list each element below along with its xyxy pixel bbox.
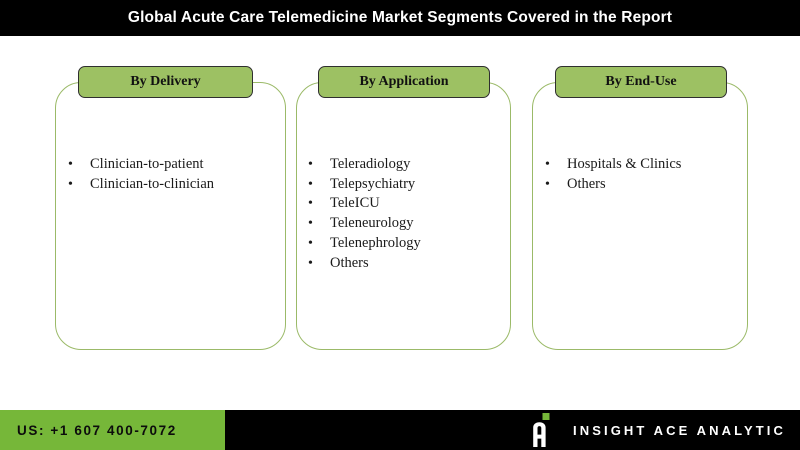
list-item-label: Teleradiology [330, 155, 410, 174]
list-item: • Telenephrology [308, 234, 503, 254]
list-item-label: Others [567, 175, 606, 194]
bullet-icon: • [308, 156, 330, 175]
brand-name: INSIGHT ACE ANALYTIC [573, 423, 786, 438]
bullet-icon: • [308, 195, 330, 214]
list-item: • Telepsychiatry [308, 175, 503, 195]
list-item: • Others [545, 175, 741, 195]
list-item-label: TeleICU [330, 194, 380, 213]
bullet-icon: • [308, 176, 330, 195]
list-item: • TeleICU [308, 194, 503, 214]
bullet-icon: • [308, 215, 330, 234]
segment-header-application: By Application [318, 66, 490, 98]
list-item: • Clinician-to-patient [68, 155, 273, 175]
bullet-icon: • [308, 235, 330, 254]
segment-card-end-use [532, 82, 748, 350]
segments-diagram: By Delivery • Clinician-to-patient • Cli… [0, 36, 800, 401]
phone-number: US: +1 607 400-7072 [17, 423, 177, 438]
list-item-label: Clinician-to-patient [90, 155, 204, 174]
phone-bar: US: +1 607 400-7072 [0, 410, 225, 450]
list-item: • Teleradiology [308, 155, 503, 175]
segment-header-end-use: By End-Use [555, 66, 727, 98]
footer-bar: US: +1 607 400-7072 INSIGHT ACE ANALYTIC [0, 410, 800, 450]
list-item: • Others [308, 254, 503, 274]
list-item-label: Teleneurology [330, 214, 414, 233]
title-bar: Global Acute Care Telemedicine Market Se… [0, 0, 800, 36]
list-item-label: Telenephrology [330, 234, 421, 253]
bullet-icon: • [545, 156, 567, 175]
bullet-icon: • [545, 176, 567, 195]
list-item: • Teleneurology [308, 214, 503, 234]
list-item-label: Clinician-to-clinician [90, 175, 214, 194]
bullet-icon: • [68, 156, 90, 175]
segment-list-end-use: • Hospitals & Clinics • Others [545, 155, 741, 194]
list-item-label: Others [330, 254, 369, 273]
segment-header-label: By Application [359, 74, 448, 90]
brand-logo: INSIGHT ACE ANALYTIC [529, 410, 786, 450]
bullet-icon: • [68, 176, 90, 195]
segment-header-label: By Delivery [130, 74, 200, 90]
segment-list-application: • Teleradiology • Telepsychiatry • TeleI… [308, 155, 503, 273]
list-item: • Clinician-to-clinician [68, 175, 273, 195]
segment-card-delivery [55, 82, 286, 350]
bullet-icon: • [308, 255, 330, 274]
page-title: Global Acute Care Telemedicine Market Se… [128, 9, 672, 27]
list-item: • Hospitals & Clinics [545, 155, 741, 175]
segment-list-delivery: • Clinician-to-patient • Clinician-to-cl… [68, 155, 273, 194]
list-item-label: Hospitals & Clinics [567, 155, 681, 174]
segment-header-delivery: By Delivery [78, 66, 253, 98]
insight-ace-a-mark-icon [529, 413, 555, 447]
segment-header-label: By End-Use [605, 74, 676, 90]
list-item-label: Telepsychiatry [330, 175, 415, 194]
